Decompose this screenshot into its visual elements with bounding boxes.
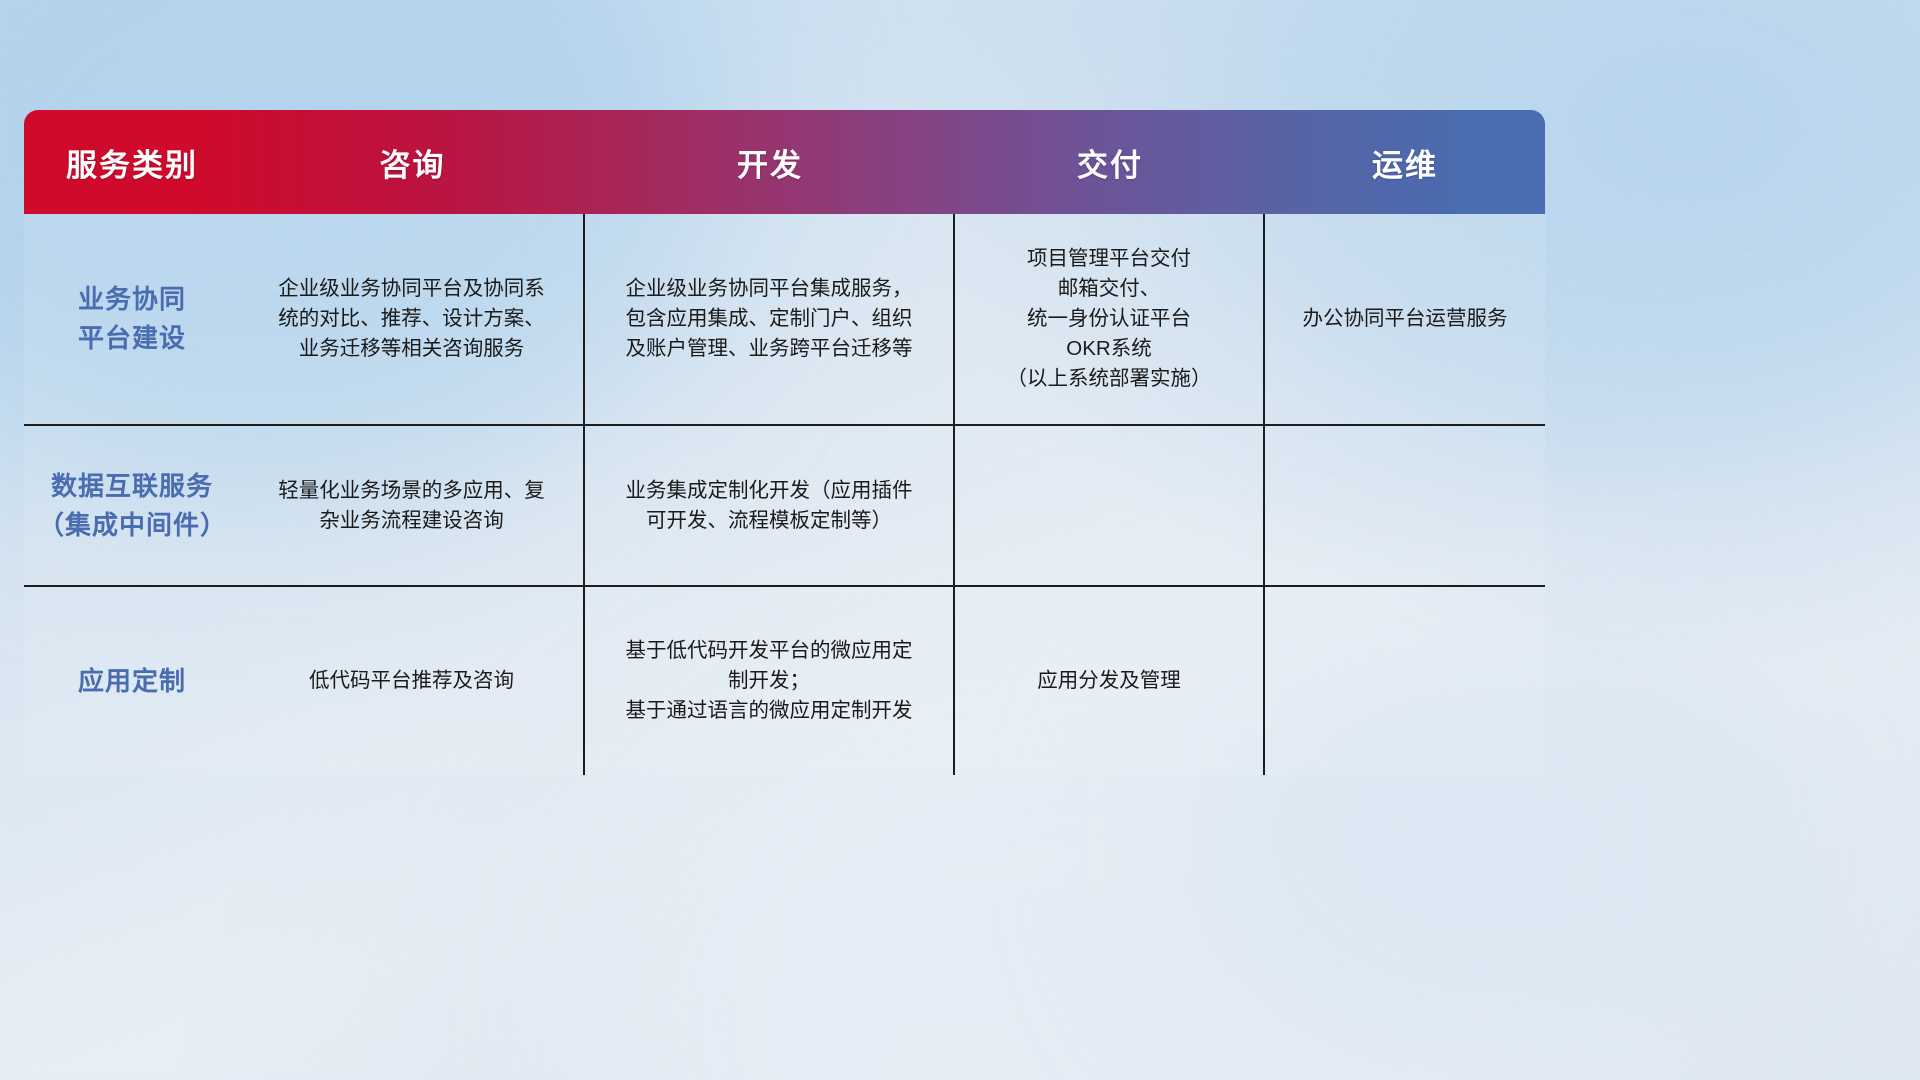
cell-operations: 办公协同平台运营服务 xyxy=(1265,214,1545,426)
cell-text: 轻量化业务场景的多应用、复 杂业务流程建设咨询 xyxy=(254,476,569,536)
cell-development: 基于低代码开发平台的微应用定 制开发； 基于通过语言的微应用定制开发 xyxy=(585,587,955,775)
table-row: 应用定制 低代码平台推荐及咨询 基于低代码开发平台的微应用定 制开发； 基于通过… xyxy=(24,587,1545,775)
cell-delivery: 应用分发及管理 xyxy=(955,587,1265,775)
cell-delivery: 项目管理平台交付 邮箱交付、 统一身份认证平台 OKR系统 （以上系统部署实施） xyxy=(955,214,1265,426)
row-category-cell: 业务协同 平台建设 xyxy=(24,214,240,426)
cell-development: 企业级业务协同平台集成服务， 包含应用集成、定制门户、组织 及账户管理、业务跨平… xyxy=(585,214,955,426)
cell-text: 基于低代码开发平台的微应用定 制开发； 基于通过语言的微应用定制开发 xyxy=(599,636,939,726)
column-header-label: 开发 xyxy=(585,140,955,185)
column-header-label: 咨询 xyxy=(240,140,585,185)
column-header-label: 运维 xyxy=(1265,140,1545,185)
column-header-label: 服务类别 xyxy=(24,140,240,185)
row-category-label-line2: 平台建设 xyxy=(38,319,226,358)
cell-text: 应用分发及管理 xyxy=(969,666,1249,696)
row-category-cell: 应用定制 xyxy=(24,587,240,775)
table-header: 服务类别 咨询 开发 交付 运维 xyxy=(24,110,1545,214)
cell-consulting: 轻量化业务场景的多应用、复 杂业务流程建设咨询 xyxy=(240,426,585,587)
service-matrix-table: 服务类别 咨询 开发 交付 运维 xyxy=(24,110,1545,775)
cell-operations xyxy=(1265,587,1545,775)
column-header-label: 交付 xyxy=(955,140,1265,185)
table-row: 业务协同 平台建设 企业级业务协同平台及协同系 统的对比、推荐、设计方案、 业务… xyxy=(24,214,1545,426)
cell-text: 业务集成定制化开发（应用插件 可开发、流程模板定制等） xyxy=(599,476,939,536)
column-header-operations: 运维 xyxy=(1265,110,1545,214)
cell-text: 办公协同平台运营服务 xyxy=(1279,304,1531,334)
column-header-service-category: 服务类别 xyxy=(24,110,240,214)
row-category-cell: 数据互联服务 （集成中间件） xyxy=(24,426,240,587)
column-header-development: 开发 xyxy=(585,110,955,214)
row-category-label-line1: 业务协同 xyxy=(38,280,226,319)
service-matrix-table-wrapper: 服务类别 咨询 开发 交付 运维 xyxy=(24,110,1545,775)
row-category-label-line1: 应用定制 xyxy=(38,662,226,701)
cell-development: 业务集成定制化开发（应用插件 可开发、流程模板定制等） xyxy=(585,426,955,587)
row-category-label-line1: 数据互联服务 xyxy=(38,467,226,506)
table-body: 业务协同 平台建设 企业级业务协同平台及协同系 统的对比、推荐、设计方案、 业务… xyxy=(24,214,1545,775)
column-header-delivery: 交付 xyxy=(955,110,1265,214)
page-root: 服务类别 咨询 开发 交付 运维 xyxy=(0,0,1920,1080)
row-category-label-line2: （集成中间件） xyxy=(38,506,226,545)
cell-operations xyxy=(1265,426,1545,587)
cell-text: 低代码平台推荐及咨询 xyxy=(254,666,569,696)
cell-text: 项目管理平台交付 邮箱交付、 统一身份认证平台 OKR系统 （以上系统部署实施） xyxy=(969,244,1249,394)
cell-text: 企业级业务协同平台及协同系 统的对比、推荐、设计方案、 业务迁移等相关咨询服务 xyxy=(254,274,569,364)
cell-consulting: 低代码平台推荐及咨询 xyxy=(240,587,585,775)
table-header-row: 服务类别 咨询 开发 交付 运维 xyxy=(24,110,1545,214)
cell-text: 企业级业务协同平台集成服务， 包含应用集成、定制门户、组织 及账户管理、业务跨平… xyxy=(599,274,939,364)
cell-consulting: 企业级业务协同平台及协同系 统的对比、推荐、设计方案、 业务迁移等相关咨询服务 xyxy=(240,214,585,426)
cell-delivery xyxy=(955,426,1265,587)
table-row: 数据互联服务 （集成中间件） 轻量化业务场景的多应用、复 杂业务流程建设咨询 业… xyxy=(24,426,1545,587)
column-header-consulting: 咨询 xyxy=(240,110,585,214)
